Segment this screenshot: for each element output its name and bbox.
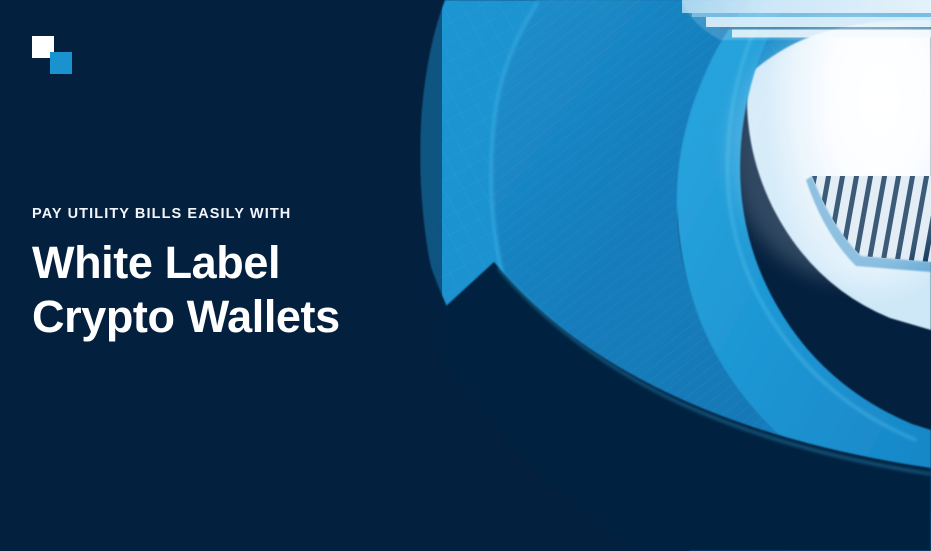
eyebrow-text: PAY UTILITY BILLS EASILY WITH [32, 206, 452, 223]
hero-banner: PAY UTILITY BILLS EASILY WITH White Labe… [0, 0, 931, 551]
page-title: White Label Crypto Wallets [32, 240, 452, 339]
headline-line-2: Crypto Wallets [32, 294, 452, 339]
headline-line-1: White Label [32, 240, 452, 285]
spiral-architecture-artwork [420, 0, 931, 551]
hero-copy: PAY UTILITY BILLS EASILY WITH White Labe… [32, 206, 452, 339]
brand-logo[interactable] [32, 36, 72, 74]
logo-square-blue-icon [50, 52, 72, 74]
artwork-svg [420, 0, 931, 551]
